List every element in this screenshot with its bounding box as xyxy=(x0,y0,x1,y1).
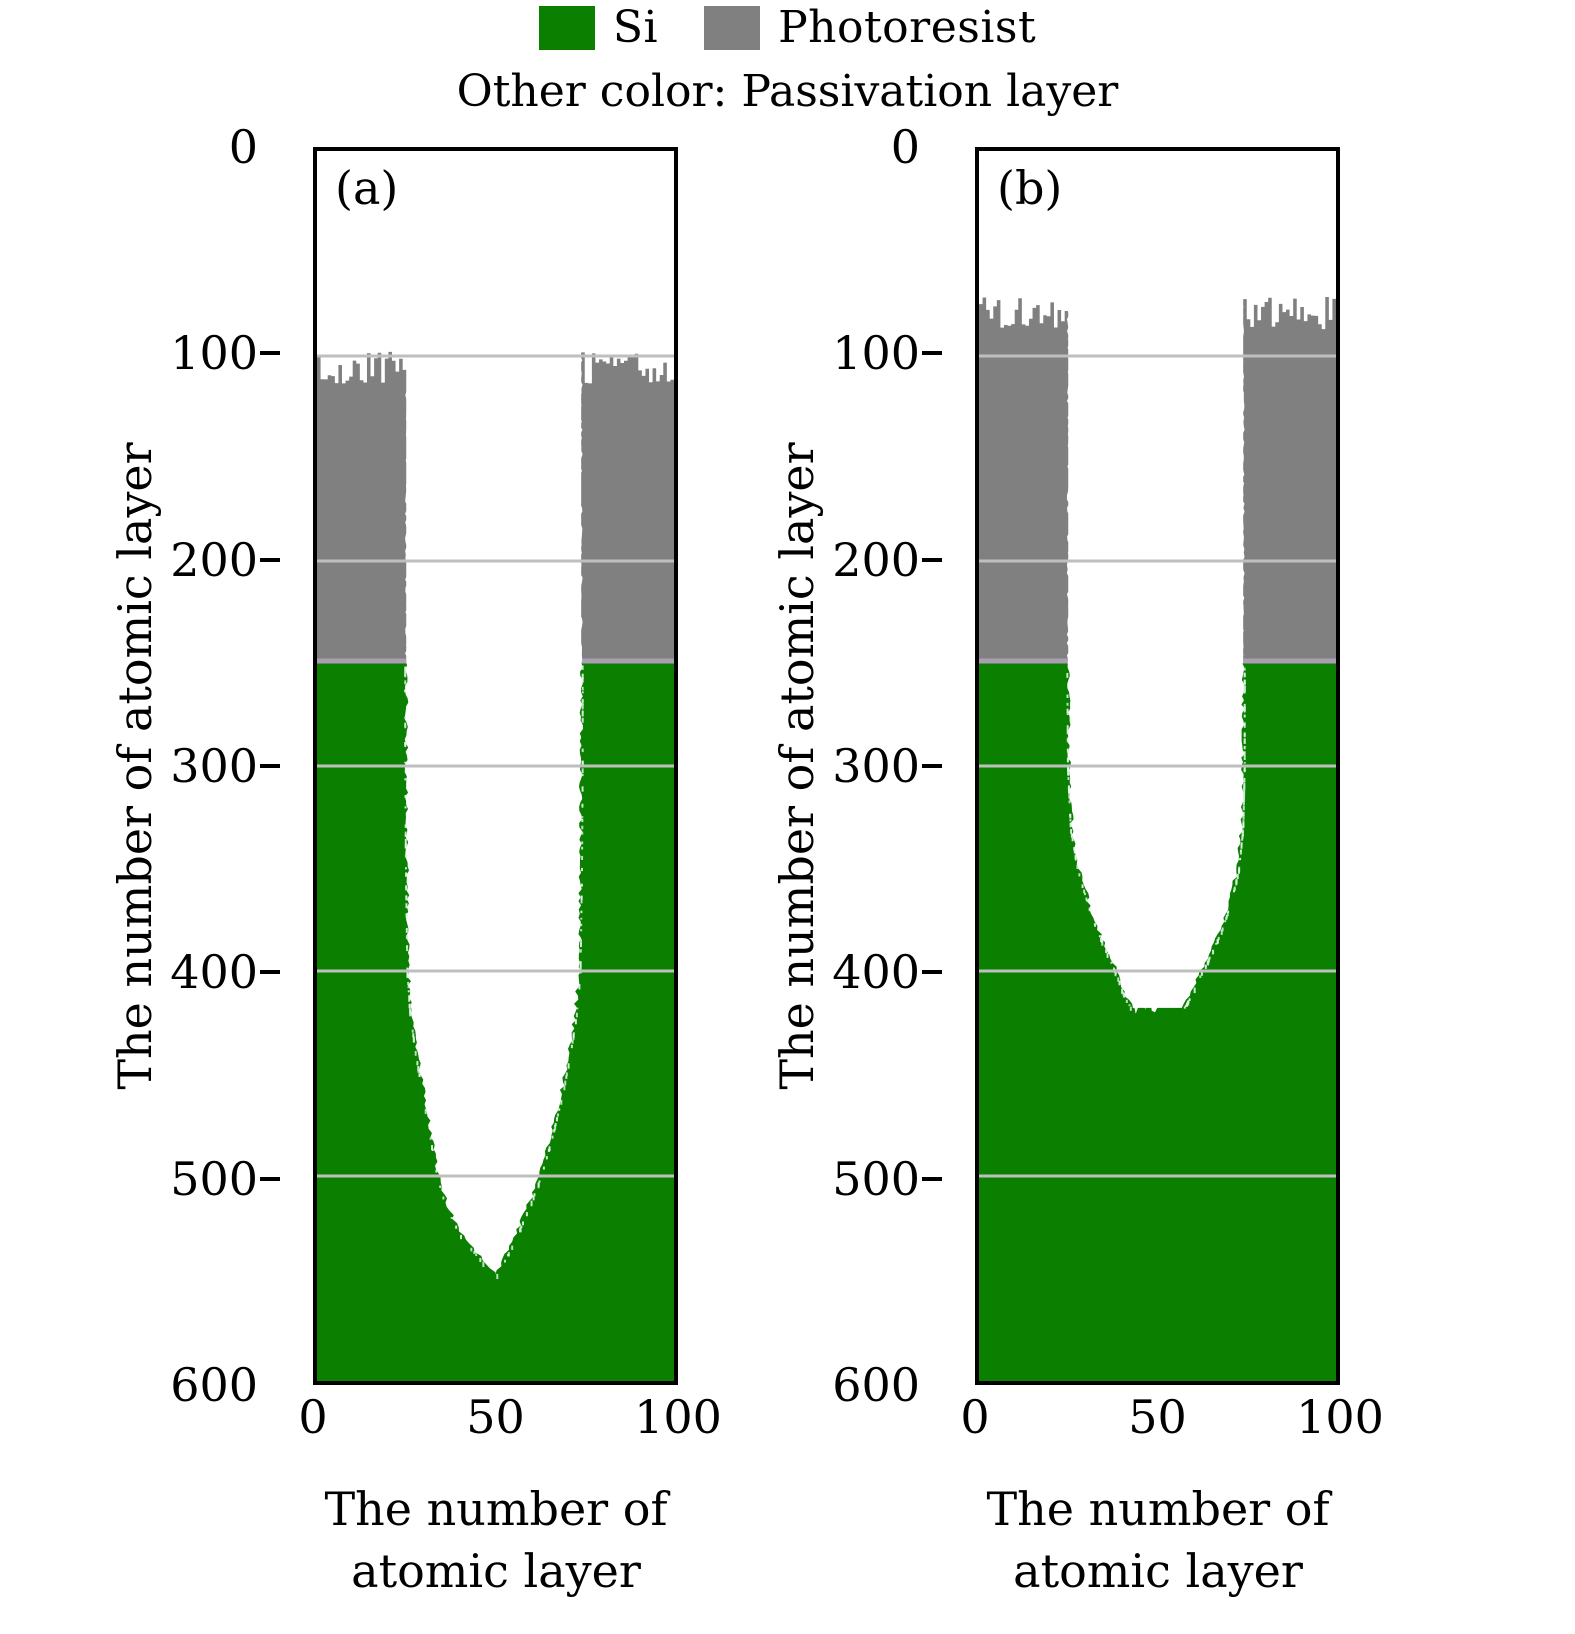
y-tick-mark-200 xyxy=(260,558,280,562)
panel-tag-b: (b) xyxy=(997,165,1062,211)
y-tick-mark-500 xyxy=(260,1177,280,1181)
x-tick-label-100: 100 xyxy=(634,1394,722,1440)
y-axis-title-b: The number of atomic layer xyxy=(762,147,832,1385)
y-tick-label-600: 600 xyxy=(170,1362,258,1408)
si-swatch-icon xyxy=(539,6,595,50)
x-axis-title-a: The number of atomic layer xyxy=(256,1478,736,1602)
figure-root: Si Photoresist Other color: Passivation … xyxy=(0,0,1575,1634)
y-tick-mark-100 xyxy=(922,351,942,355)
y-tick-mark-300 xyxy=(922,764,942,768)
legend-label-si: Si xyxy=(613,6,658,50)
photoresist-mask xyxy=(581,352,674,663)
etched-trench-void xyxy=(1067,295,1245,1008)
photoresist-mask xyxy=(1243,297,1336,664)
y-tick-mark-500 xyxy=(922,1177,942,1181)
legend-entry-photoresist: Photoresist xyxy=(704,6,1036,50)
y-tick-label-100: 100 xyxy=(832,330,920,376)
y-tick-label-600: 600 xyxy=(832,1362,920,1408)
y-tick-mark-200 xyxy=(922,558,942,562)
y-tick-label-100: 100 xyxy=(170,330,258,376)
y-tick-mark-300 xyxy=(260,764,280,768)
panel-b: (b) xyxy=(975,147,1340,1385)
legend-label-photoresist: Photoresist xyxy=(778,6,1036,50)
plot-area-a: (a) xyxy=(313,147,678,1385)
x-axis-title-b: The number of atomic layer xyxy=(918,1478,1398,1602)
x-tick-label-100: 100 xyxy=(1296,1394,1384,1440)
panel-a: (a) xyxy=(313,147,678,1385)
profile-map-a xyxy=(317,151,674,1381)
y-tick-label-200: 200 xyxy=(170,537,258,583)
y-tick-label-200: 200 xyxy=(832,537,920,583)
x-axis-ticks-panel-a: 050100 xyxy=(313,1394,678,1454)
photoresist-mask xyxy=(317,352,406,664)
panel-tag-a: (a) xyxy=(335,165,398,211)
x-tick-label-0: 0 xyxy=(298,1394,327,1440)
x-axis-title-b-line1: The number of xyxy=(918,1478,1398,1540)
y-tick-mark-100 xyxy=(260,351,280,355)
legend-note-passivation: Other color: Passivation layer xyxy=(0,66,1575,118)
x-tick-label-50: 50 xyxy=(1128,1394,1187,1440)
y-tick-label-0: 0 xyxy=(891,124,920,170)
x-axis-title-a-line2: atomic layer xyxy=(256,1540,736,1602)
x-axis-ticks-panel-b: 050100 xyxy=(975,1394,1340,1454)
y-tick-mark-400 xyxy=(260,970,280,974)
plot-area-b: (b) xyxy=(975,147,1340,1385)
profile-svg xyxy=(979,151,1336,1381)
y-tick-label-0: 0 xyxy=(229,124,258,170)
x-axis-title-b-line2: atomic layer xyxy=(918,1540,1398,1602)
legend-entry-si: Si xyxy=(539,6,658,50)
y-tick-mark-400 xyxy=(922,970,942,974)
y-axis-title-a: The number of atomic layer xyxy=(100,147,170,1385)
profile-map-b xyxy=(979,151,1336,1381)
x-tick-label-0: 0 xyxy=(960,1394,989,1440)
x-tick-label-50: 50 xyxy=(466,1394,525,1440)
legend: Si Photoresist xyxy=(0,6,1575,50)
y-tick-label-500: 500 xyxy=(832,1156,920,1202)
y-tick-label-300: 300 xyxy=(170,743,258,789)
x-axis-title-a-line1: The number of xyxy=(256,1478,736,1540)
y-tick-label-400: 400 xyxy=(832,949,920,995)
photoresist-mask xyxy=(979,298,1068,664)
y-tick-label-300: 300 xyxy=(832,743,920,789)
photoresist-swatch-icon xyxy=(704,6,760,50)
y-tick-label-500: 500 xyxy=(170,1156,258,1202)
profile-svg xyxy=(317,151,674,1381)
y-tick-label-400: 400 xyxy=(170,949,258,995)
